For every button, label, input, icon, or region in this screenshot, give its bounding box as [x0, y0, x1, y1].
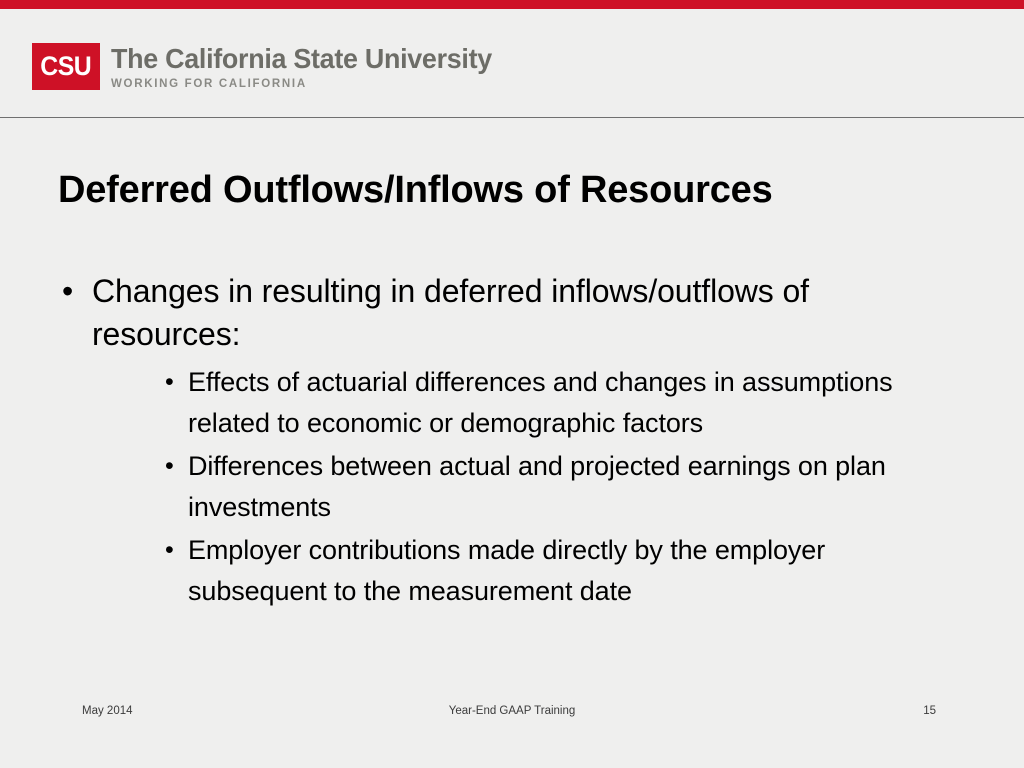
top-accent-bar: [0, 0, 1024, 9]
csu-logo-mark: CSU: [32, 43, 100, 90]
bullet-level-2-text: Effects of actuarial differences and cha…: [188, 367, 893, 438]
bullet-level-1-text: Changes in resulting in deferred inflows…: [92, 273, 809, 352]
bullet-level-2-text: Differences between actual and projected…: [188, 451, 886, 522]
bullet-dot-icon: •: [165, 362, 174, 403]
slide-footer: May 2014 Year-End GAAP Training 15: [0, 703, 1024, 723]
bullet-dot-icon: •: [165, 446, 174, 487]
bullet-level-2: • Effects of actuarial differences and c…: [0, 362, 1024, 444]
footer-page-number: 15: [0, 703, 1024, 719]
csu-logo-mark-text: CSU: [40, 53, 91, 80]
slide-header: CSU The California State University WORK…: [0, 9, 1024, 118]
bullet-level-2: • Differences between actual and project…: [0, 446, 1024, 528]
csu-logo: CSU The California State University WORK…: [32, 43, 508, 91]
bullet-dot-icon: •: [62, 270, 73, 313]
csu-logo-title: The California State University: [111, 44, 492, 74]
slide: CSU The California State University WORK…: [0, 0, 1024, 768]
bullet-level-1: • Changes in resulting in deferred inflo…: [0, 270, 1024, 356]
header-divider: [0, 117, 1024, 118]
bullet-level-2-group: • Effects of actuarial differences and c…: [0, 362, 1024, 612]
bullet-level-2: • Employer contributions made directly b…: [0, 530, 1024, 612]
csu-logo-tagline: WORKING FOR CALIFORNIA: [111, 77, 508, 91]
bullet-dot-icon: •: [165, 530, 174, 571]
page-title: Deferred Outflows/Inflows of Resources: [58, 166, 958, 214]
slide-body: • Changes in resulting in deferred inflo…: [0, 270, 1024, 614]
csu-logo-wordmark: The California State University WORKING …: [111, 43, 508, 91]
bullet-level-2-text: Employer contributions made directly by …: [188, 535, 825, 606]
